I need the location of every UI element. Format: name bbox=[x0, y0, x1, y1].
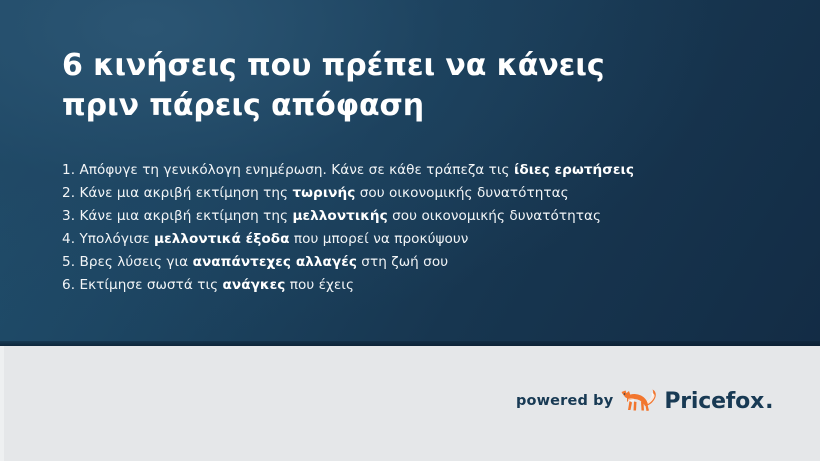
list-item-text: που έχεις bbox=[285, 277, 354, 293]
list-item: 1. Απόφυγε τη γενικόλογη ενημέρωση. Κάνε… bbox=[62, 159, 762, 182]
list-item-text: Βρες λύσεις για bbox=[75, 254, 192, 270]
list-item-text: Κάνε μια ακριβή εκτίμηση της bbox=[75, 185, 292, 201]
list-item-number: 3. bbox=[62, 208, 75, 224]
list-item: 6. Εκτίμησε σωστά τις ανάγκες που έχεις bbox=[62, 274, 762, 297]
steps-list: 1. Απόφυγε τη γενικόλογη ενημέρωση. Κάνε… bbox=[62, 159, 762, 297]
list-item-number: 6. bbox=[62, 277, 75, 293]
powered-by-label: powered by bbox=[516, 393, 613, 409]
list-item-emphasis: ίδιες ερωτήσεις bbox=[514, 162, 634, 178]
list-item-text: Εκτίμησε σωστά τις bbox=[75, 277, 222, 293]
list-item-emphasis: ανάγκες bbox=[223, 277, 286, 293]
brand-name: Pricefox bbox=[664, 389, 764, 414]
list-item: 2. Κάνε μια ακριβή εκτίμηση της τωρινής … bbox=[62, 182, 762, 205]
list-item-text: Απόφυγε τη γενικόλογη ενημέρωση. Κάνε σε… bbox=[75, 162, 514, 178]
list-item-text: Κάνε μια ακριβή εκτίμηση της bbox=[75, 208, 292, 224]
list-item-text: στη ζωή σου bbox=[357, 254, 448, 270]
slide-canvas: 6 κινήσεις που πρέπει να κάνεις πριν πάρ… bbox=[0, 0, 820, 461]
powered-by-lockup: powered by Pricefox . bbox=[516, 386, 773, 416]
footer-left-edge bbox=[0, 346, 4, 461]
list-item-text: Υπολόγισε bbox=[75, 231, 154, 247]
list-item: 4. Υπολόγισε μελλοντικά έξοδα που μπορεί… bbox=[62, 228, 762, 251]
list-item-number: 4. bbox=[62, 231, 75, 247]
list-item-number: 2. bbox=[62, 185, 75, 201]
list-item-number: 1. bbox=[62, 162, 75, 178]
fox-icon bbox=[620, 388, 660, 414]
brand-name-period: . bbox=[765, 389, 773, 414]
list-item-emphasis: μελλοντικά έξοδα bbox=[154, 231, 290, 247]
list-item: 3. Κάνε μια ακριβή εκτίμηση της μελλοντι… bbox=[62, 205, 762, 228]
list-item-emphasis: μελλοντικής bbox=[292, 208, 387, 224]
list-item-number: 5. bbox=[62, 254, 75, 270]
list-item-emphasis: αναπάντεχες αλλαγές bbox=[193, 254, 357, 270]
list-item-emphasis: τωρινής bbox=[292, 185, 355, 201]
page-title: 6 κινήσεις που πρέπει να κάνεις πριν πάρ… bbox=[62, 46, 742, 126]
list-item-text: σου οικονομικής δυνατότητας bbox=[388, 208, 601, 224]
list-item-text: που μπορεί να προκύψουν bbox=[290, 231, 469, 247]
list-item: 5. Βρες λύσεις για αναπάντεχες αλλαγές σ… bbox=[62, 251, 762, 274]
list-item-text: σου οικονομικής δυνατότητας bbox=[355, 185, 568, 201]
